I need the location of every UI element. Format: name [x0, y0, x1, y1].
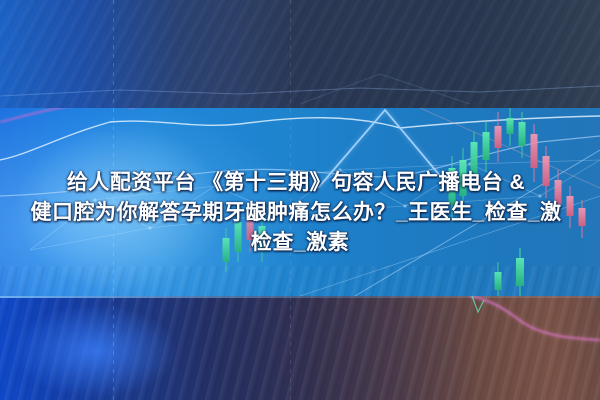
- headline-line-1: 给人配资平台 《第十三期》句容人民广播电台 &: [0, 168, 600, 198]
- magenta-upper-line: [0, 104, 135, 122]
- magenta-curve-glow: [470, 296, 600, 340]
- headline-line-2: 健口腔为你解答孕期牙龈肿痛怎么办？_王医生_检查_激: [0, 198, 600, 228]
- bottom-band-chart: [470, 296, 600, 340]
- headline-text: 给人配资平台 《第十三期》句容人民广播电台 & 健口腔为你解答孕期牙龈肿痛怎么办…: [0, 168, 600, 258]
- top-band-lines: [0, 74, 600, 104]
- banner-image: 给人配资平台 《第十三期》句容人民广播电台 & 健口腔为你解答孕期牙龈肿痛怎么办…: [0, 0, 600, 400]
- headline-line-3: 检查_激素: [0, 228, 600, 258]
